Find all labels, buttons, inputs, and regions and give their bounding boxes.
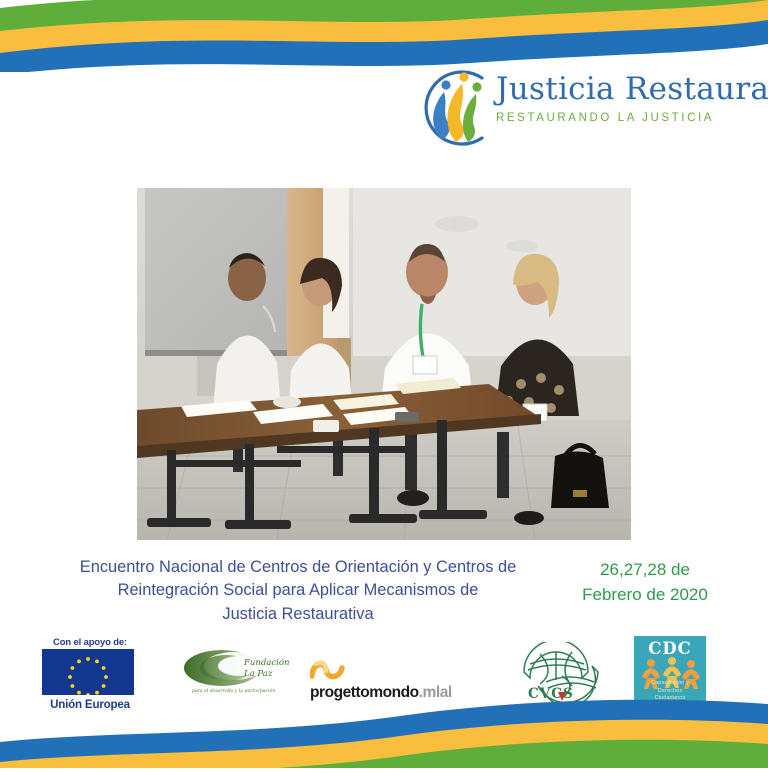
sponsor-fundacion-la-paz: Fundación La Paz para el desarrollo y la…: [182, 646, 294, 698]
eu-flag-icon: [42, 649, 134, 695]
caption-line-1: Encuentro Nacional de Centros de Orienta…: [48, 556, 548, 579]
svg-text:Fundación: Fundación: [243, 657, 289, 668]
logo-wordmark: Justicia Restaurativa RESTAURANDO LA JUS…: [496, 74, 752, 124]
event-poster: Justicia Restaurativa RESTAURANDO LA JUS…: [0, 0, 768, 768]
caption-line-3: Justicia Restaurativa: [48, 603, 548, 626]
event-title-caption: Encuentro Nacional de Centros de Orienta…: [48, 556, 548, 626]
cdc-subtitle-line-1: Capacitación y: [634, 680, 706, 688]
brand-logo: Justicia Restaurativa RESTAURANDO LA JUS…: [400, 60, 750, 160]
support-label: Con el apoyo de:: [42, 636, 138, 647]
date-line-2: Febrero de 2020: [556, 583, 734, 608]
svg-text:para el desarrollo y la partic: para el desarrollo y la participación: [192, 687, 275, 694]
bottom-wave-ribbon-decoration: [0, 696, 768, 768]
date-line-1: 26,27,28 de: [556, 558, 734, 583]
event-date: 26,27,28 de Febrero de 2020: [556, 558, 734, 607]
svg-text:La Paz: La Paz: [243, 669, 273, 679]
event-photograph: [137, 188, 631, 540]
sponsor-progettomondo: progettomondo.mlal: [310, 658, 482, 686]
cdc-subtitle-line-2: Derechos: [634, 688, 706, 696]
logo-title: Justicia Restaurativa: [496, 74, 752, 105]
logo-tagline: RESTAURANDO LA JUSTICIA: [496, 112, 752, 124]
caption-line-2: Reintegración Social para Aplicar Mecani…: [48, 579, 548, 602]
justicia-restaurativa-flame-icon: [408, 62, 500, 154]
